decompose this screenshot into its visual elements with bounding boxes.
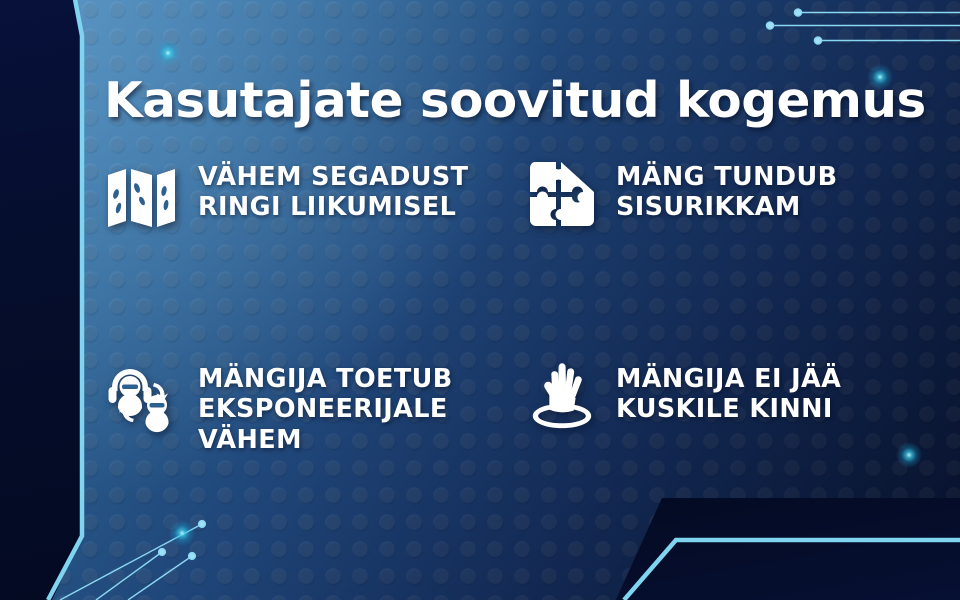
feature-label: MÄNG TUNDUB SISURIKKAM [616, 158, 896, 223]
feature-grid: VÄHEM SEGADUST RINGI LIIKUMISEL [104, 158, 914, 455]
slide-root: Kasutajate soovitud kogemus [0, 0, 960, 600]
support-handoff-icon [104, 360, 180, 436]
page-title: Kasutajate soovitud kogemus [104, 72, 926, 129]
puzzle-pieces-icon [526, 158, 598, 230]
feature-label: MÄNGIJA TOETUB EKSPONEERIJALE VÄHEM [198, 360, 526, 455]
feature-label: MÄNGIJA EI JÄÄ KUSKILE KINNI [616, 360, 914, 425]
folded-map-icon [104, 158, 180, 234]
feature-label: VÄHEM SEGADUST RINGI LIIKUMISEL [198, 158, 498, 223]
feature-item: MÄNGIJA TOETUB EKSPONEERIJALE VÄHEM [104, 338, 526, 455]
feature-item: MÄNG TUNDUB SISURIKKAM [526, 158, 914, 338]
feature-item: VÄHEM SEGADUST RINGI LIIKUMISEL [104, 158, 526, 338]
slide-content: Kasutajate soovitud kogemus [0, 0, 960, 600]
feature-item: MÄNGIJA EI JÄÄ KUSKILE KINNI [526, 338, 914, 455]
hand-out-of-hole-icon [526, 360, 598, 432]
